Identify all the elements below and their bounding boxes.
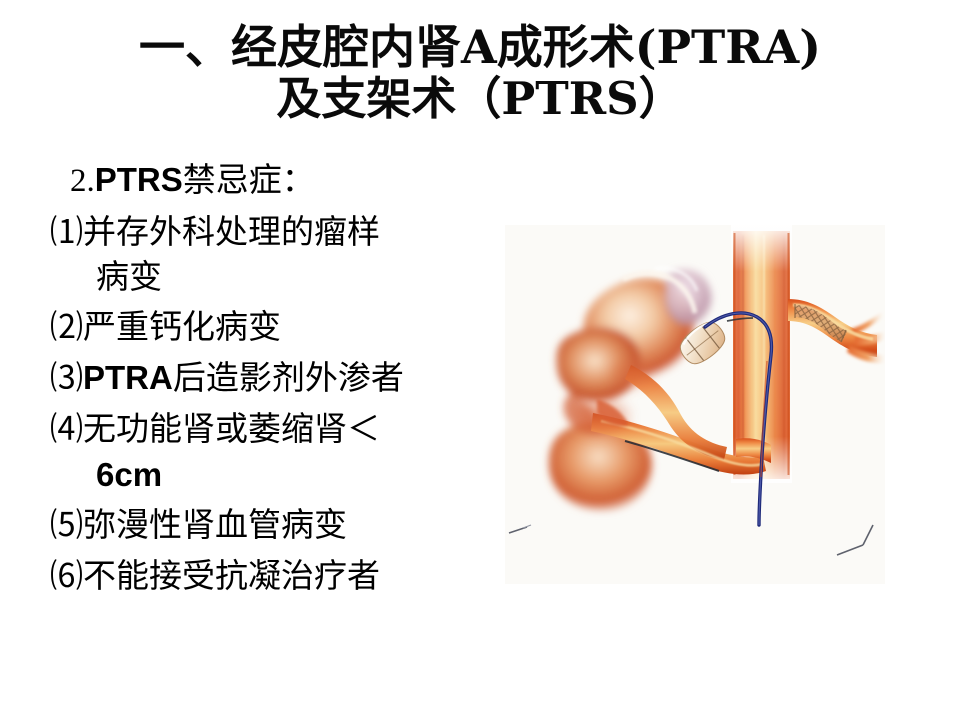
- section-number: 2.: [70, 163, 95, 199]
- section-heading: 2.PTRS禁忌症：: [70, 160, 490, 202]
- list-marker: ⑷: [50, 412, 83, 448]
- content-body: 2.PTRS禁忌症： ⑴并存外科处理的瘤样 病变 ⑵严重钙化病变 ⑶PTRA后造…: [50, 160, 490, 606]
- list-marker: ⑵: [50, 310, 83, 346]
- list-item-text: 后造影剂外渗者: [173, 358, 404, 397]
- list-item: ⑶PTRA后造影剂外渗者: [50, 357, 490, 401]
- list-item-continuation: 6cm: [50, 454, 490, 497]
- list-item-continuation: 病变: [50, 256, 490, 299]
- list-marker: ⑸: [50, 508, 83, 544]
- medical-illustration: [505, 225, 885, 584]
- contraindication-list: ⑴并存外科处理的瘤样 病变 ⑵严重钙化病变 ⑶PTRA后造影剂外渗者 ⑷无功能肾…: [50, 211, 490, 599]
- slide-canvas: 一、经皮腔内肾A成形术(PTRA) 及支架术（PTRS） 2.PTRS禁忌症： …: [0, 0, 960, 720]
- list-item-text: 不能接受抗凝治疗者: [83, 556, 380, 595]
- list-marker: ⑶: [50, 361, 83, 397]
- list-item: ⑴并存外科处理的瘤样 病变: [50, 211, 490, 300]
- section-acronym: PTRS: [95, 161, 183, 198]
- list-marker: ⑹: [50, 559, 83, 595]
- illustration-svg: [505, 225, 885, 584]
- list-item-text: 弥漫性肾血管病变: [83, 505, 347, 544]
- section-heading-text: 禁忌症：: [183, 160, 315, 199]
- list-item-acronym: PTRA: [83, 359, 173, 396]
- list-item: ⑹不能接受抗凝治疗者: [50, 555, 490, 599]
- list-item-text: 严重钙化病变: [83, 307, 281, 346]
- list-item: ⑸弥漫性肾血管病变: [50, 504, 490, 548]
- page-title: 一、经皮腔内肾A成形术(PTRA) 及支架术（PTRS）: [60, 22, 900, 124]
- title-line-1: 一、经皮腔内肾A成形术(PTRA): [60, 22, 900, 74]
- list-marker: ⑴: [50, 215, 83, 251]
- list-item-text: 并存外科处理的瘤样: [83, 212, 380, 251]
- title-line-2: 及支架术（PTRS）: [60, 74, 900, 124]
- list-item: ⑷无功能肾或萎缩肾＜ 6cm: [50, 408, 490, 497]
- list-item: ⑵严重钙化病变: [50, 306, 490, 350]
- list-item-text: 无功能肾或萎缩肾＜: [83, 409, 380, 448]
